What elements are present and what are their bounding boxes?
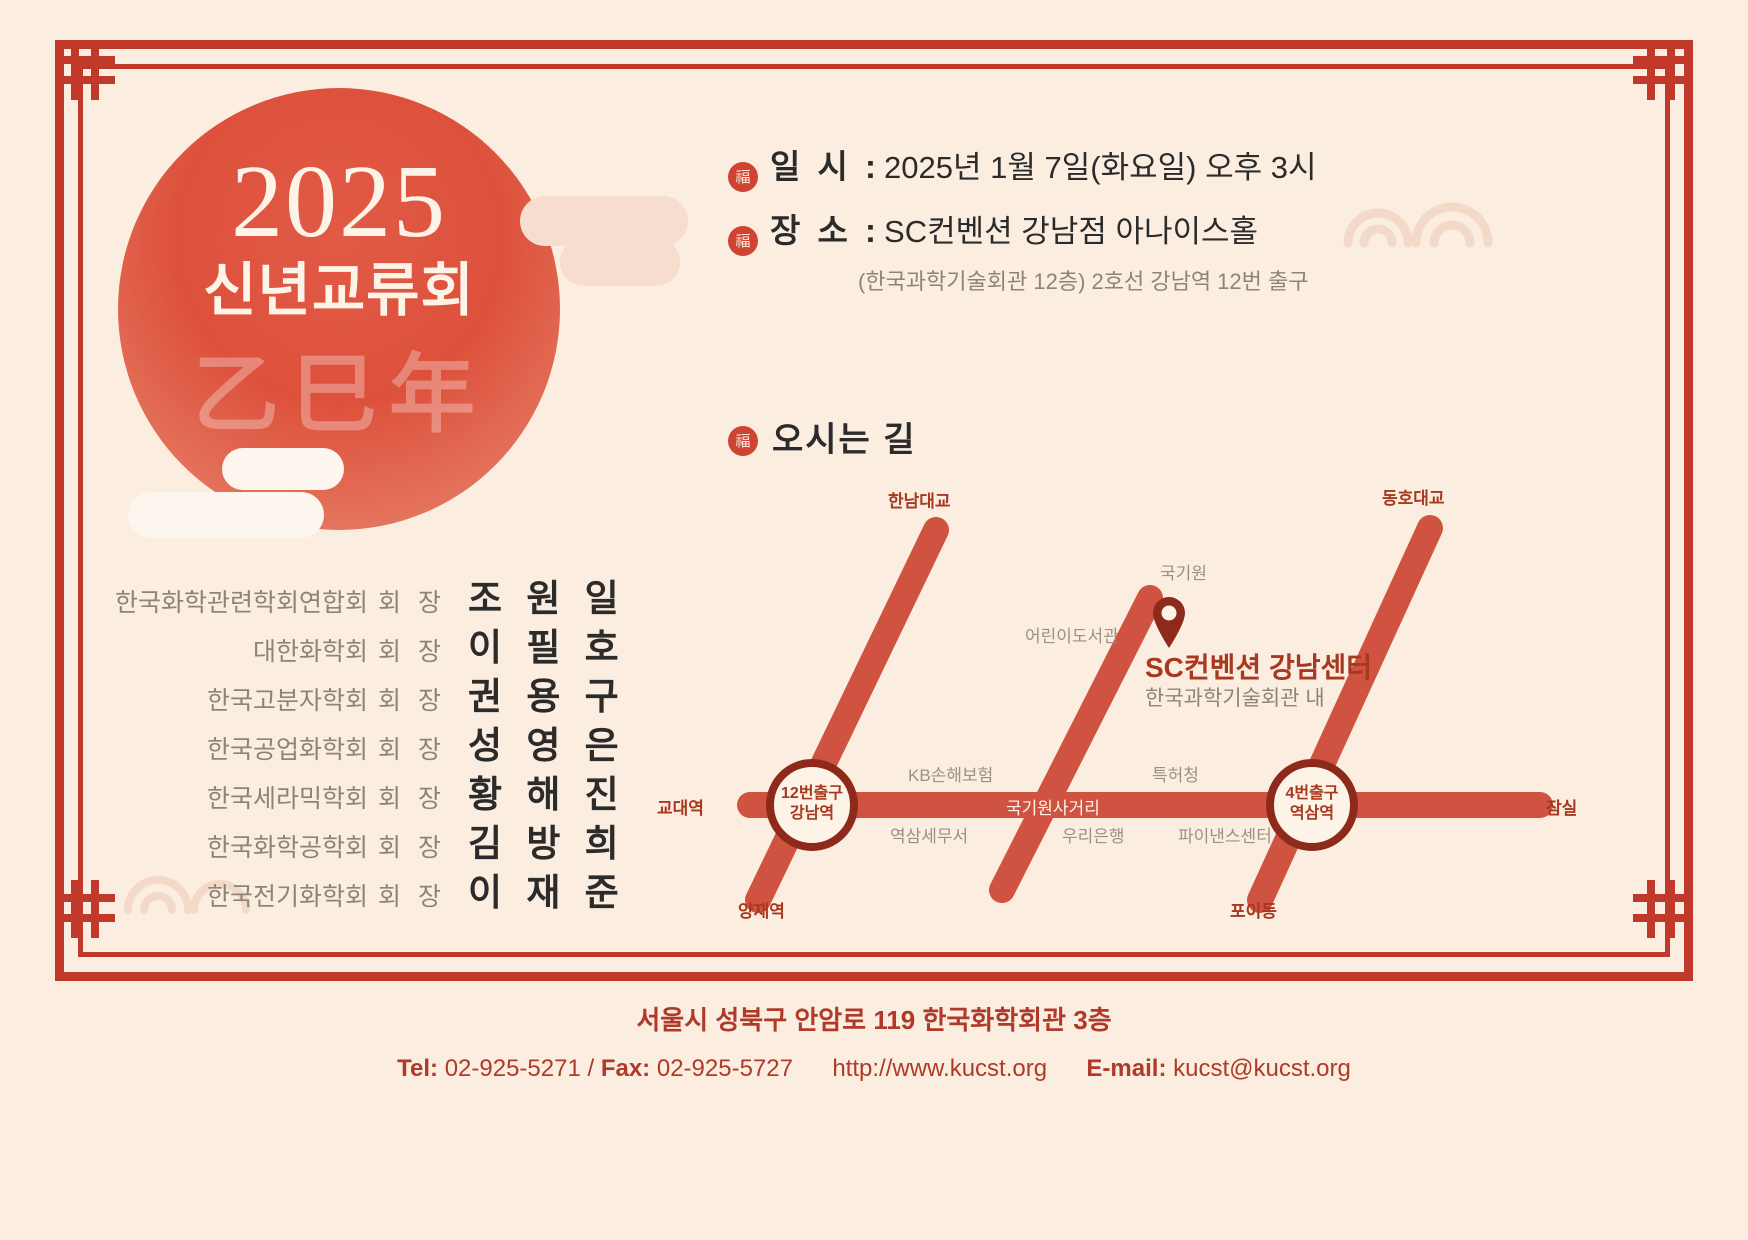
contact-separator: / bbox=[587, 1055, 594, 1082]
frame-inner-bottom bbox=[78, 952, 1670, 957]
fu-badge-icon: 福 bbox=[728, 162, 758, 192]
frame-border-left bbox=[55, 40, 64, 981]
directions-label: 오시는 길 bbox=[772, 412, 917, 461]
map-label-hannam-bridge: 한남대교 bbox=[888, 487, 951, 512]
footer-contact-line: Tel: 02-925-5271 / Fax: 02-925-5727 http… bbox=[0, 1055, 1748, 1083]
frame-border-bottom bbox=[55, 972, 1693, 981]
map-label-finance-center: 파이낸스센터 bbox=[1178, 822, 1272, 847]
map-label-poi-dong: 포이동 bbox=[1230, 897, 1277, 922]
list-item: 한국화학공학회 회 장 김 방 희 bbox=[110, 813, 590, 847]
event-place-row: 福 장 소 : SC컨벤션 강남점 아나이스홀 bbox=[728, 204, 1317, 252]
cloud-ornament-d bbox=[128, 492, 324, 538]
map-label-patent-office: 특허청 bbox=[1152, 761, 1199, 786]
map-label-gyodae: 교대역 bbox=[657, 794, 704, 819]
chair-org: 한국전기화학회 bbox=[207, 877, 368, 913]
map-label-kb-insurance: KB손해보험 bbox=[908, 761, 993, 786]
frame-inner-right bbox=[1665, 64, 1670, 957]
frame-inner-top bbox=[78, 64, 1670, 69]
event-info-block: 福 일 시 : 2025년 1월 7일(화요일) 오후 3시 福 장 소 : S… bbox=[728, 140, 1317, 306]
chairs-list: 한국화학관련학회연합회 회 장 조 원 일 대한화학회 회 장 이 필 호 한국… bbox=[110, 568, 590, 911]
directions-heading: 福 오시는 길 bbox=[728, 412, 917, 461]
frame-border-right bbox=[1684, 40, 1693, 981]
chair-org: 한국화학공학회 bbox=[207, 828, 368, 864]
poster-root: 2025 신년교류회 乙巳年 福 일 시 : 2025년 1월 7일(화요일) … bbox=[0, 0, 1748, 1240]
list-item: 한국전기화학회 회 장 이 재 준 bbox=[110, 862, 590, 896]
website-link[interactable]: http://www.kucst.org bbox=[832, 1055, 1047, 1082]
fu-badge-icon: 福 bbox=[728, 426, 758, 456]
event-date-label: 일 시 : bbox=[770, 140, 880, 188]
venue-pin-icon bbox=[1153, 597, 1185, 648]
chair-name: 권 용 구 bbox=[468, 666, 590, 720]
cloud-ornament-b bbox=[560, 238, 680, 286]
chair-name: 조 원 일 bbox=[468, 568, 590, 622]
chair-org: 대한화학회 bbox=[253, 632, 368, 668]
email-value[interactable]: kucst@kucst.org bbox=[1173, 1055, 1351, 1082]
chair-name: 이 필 호 bbox=[468, 617, 590, 671]
corner-ornament-top-right bbox=[1633, 42, 1691, 100]
chair-title: 회 장 bbox=[378, 877, 446, 913]
list-item: 한국공업화학회 회 장 성 영 은 bbox=[110, 715, 590, 749]
fu-badge-icon: 福 bbox=[728, 226, 758, 256]
chair-title: 회 장 bbox=[378, 730, 446, 766]
venue-name: SC컨벤션 강남센터 bbox=[1145, 646, 1372, 686]
station-exit-yeoksam: 4번출구 bbox=[1270, 784, 1354, 804]
road-diagonal-dongho bbox=[1260, 528, 1430, 900]
arc-ornament-top-right bbox=[1338, 178, 1498, 248]
location-map: 한남대교 동호대교 국기원 교대역 잠실 양재역 포이동 어린이도서관 KB손해… bbox=[640, 470, 1660, 930]
event-place-value: SC컨벤션 강남점 아나이스홀 bbox=[884, 206, 1258, 251]
station-name-gangnam: 강남역 bbox=[770, 804, 854, 824]
map-label-intersection: 국기원사거리 bbox=[1006, 794, 1100, 819]
map-label-yeoksam-tax: 역삼세무서 bbox=[890, 822, 968, 847]
event-place-note: (한국과학기술회관 12층) 2호선 강남역 12번 출구 bbox=[858, 264, 1317, 296]
corner-ornament-top-left bbox=[57, 42, 115, 100]
list-item: 한국고분자학회 회 장 권 용 구 bbox=[110, 666, 590, 700]
venue-subtitle: 한국과학기술회관 내 bbox=[1145, 682, 1325, 712]
map-label-dongho-bridge: 동호대교 bbox=[1382, 484, 1445, 509]
station-exit-gangnam: 12번출구 bbox=[770, 784, 854, 804]
list-item: 한국화학관련학회연합회 회 장 조 원 일 bbox=[110, 568, 590, 602]
chair-org: 한국고분자학회 bbox=[207, 681, 368, 717]
map-label-jamsil: 잠실 bbox=[1546, 794, 1577, 819]
chair-title: 회 장 bbox=[378, 583, 446, 619]
chair-title: 회 장 bbox=[378, 681, 446, 717]
event-date-value: 2025년 1월 7일(화요일) 오후 3시 bbox=[884, 142, 1316, 187]
chair-name: 이 재 준 bbox=[468, 862, 590, 916]
chair-title: 회 장 bbox=[378, 632, 446, 668]
station-label-gangnam[interactable]: 12번출구 강남역 bbox=[770, 784, 854, 824]
map-label-children-library: 어린이도서관 bbox=[1025, 622, 1119, 647]
hero-year: 2025 bbox=[118, 150, 560, 254]
footer-address: 서울시 성북구 안암로 119 한국화학회관 3층 bbox=[0, 1000, 1748, 1037]
list-item: 대한화학회 회 장 이 필 호 bbox=[110, 617, 590, 651]
chair-name: 김 방 희 bbox=[468, 813, 590, 867]
event-place-label: 장 소 : bbox=[770, 204, 880, 252]
tel-label: Tel: bbox=[397, 1055, 438, 1082]
station-name-yeoksam: 역삼역 bbox=[1270, 804, 1354, 824]
fax-value: 02-925-5727 bbox=[657, 1055, 793, 1082]
chair-org: 한국세라믹학회 bbox=[207, 779, 368, 815]
tel-value: 02-925-5271 bbox=[445, 1055, 581, 1082]
chair-title: 회 장 bbox=[378, 828, 446, 864]
chair-org: 한국공업화학회 bbox=[207, 730, 368, 766]
map-label-gukgiwon: 국기원 bbox=[1160, 559, 1207, 584]
frame-border-top bbox=[55, 40, 1693, 49]
chair-name: 황 해 진 bbox=[468, 764, 590, 818]
hero-subtitle: 신년교류회 bbox=[118, 262, 560, 320]
chair-org: 한국화학관련학회연합회 bbox=[115, 583, 368, 619]
email-label: E-mail: bbox=[1086, 1055, 1166, 1082]
fax-label: Fax: bbox=[601, 1055, 650, 1082]
corner-ornament-bottom-left bbox=[57, 880, 115, 938]
chair-name: 성 영 은 bbox=[468, 715, 590, 769]
event-date-row: 福 일 시 : 2025년 1월 7일(화요일) 오후 3시 bbox=[728, 140, 1317, 188]
frame-inner-left bbox=[78, 64, 83, 957]
list-item: 한국세라믹학회 회 장 황 해 진 bbox=[110, 764, 590, 798]
map-label-yangjae: 양재역 bbox=[738, 897, 785, 922]
chair-title: 회 장 bbox=[378, 779, 446, 815]
station-label-yeoksam[interactable]: 4번출구 역삼역 bbox=[1270, 784, 1354, 824]
map-label-woori-bank: 우리은행 bbox=[1062, 822, 1125, 847]
footer: 서울시 성북구 안암로 119 한국화학회관 3층 Tel: 02-925-52… bbox=[0, 1000, 1748, 1083]
cloud-ornament-c bbox=[222, 448, 344, 490]
hero-hanja-year: 乙巳年 bbox=[150, 352, 530, 438]
